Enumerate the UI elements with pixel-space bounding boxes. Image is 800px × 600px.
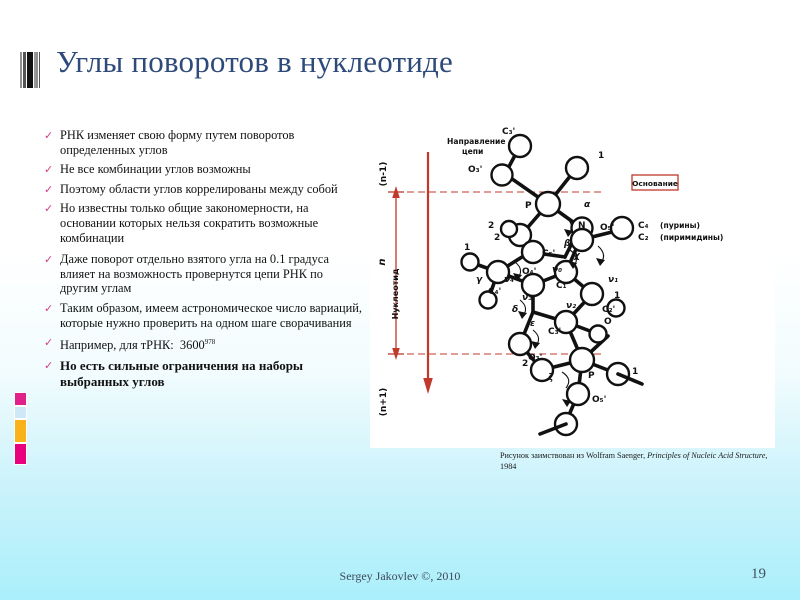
check-icon: ✓ — [44, 202, 53, 215]
label-gamma: γ — [476, 275, 483, 285]
list-item: ✓ Не все комбинации углов возможны — [44, 162, 364, 177]
list-item-label: Таким образом, имеем астрономическое чис… — [60, 301, 364, 330]
atom-c5prime — [522, 241, 544, 263]
footer-page-number: 19 — [751, 566, 766, 583]
list-item: ✓ Но известны только общие закономерност… — [44, 201, 364, 245]
label-p-upper: P — [525, 201, 532, 211]
label-delta: δ — [512, 305, 518, 315]
label-o2-upper: 2 — [494, 233, 500, 243]
purine-label: (пурины) — [660, 221, 700, 230]
direction-label-line1: Направление — [447, 137, 506, 146]
label-o5prime-lower: O₅' — [592, 395, 606, 405]
label-o2-mid: 2 — [488, 221, 494, 231]
list-item: ✓ Таким образом, имеем астрономическое ч… — [44, 301, 364, 330]
label-c4-base: C₄ — [638, 221, 649, 231]
axis-label-n: n — [377, 258, 388, 265]
accent-bar-pale-blue — [14, 406, 27, 419]
label-nu2: ν₂ — [566, 301, 576, 311]
slide-title-bar: Углы поворотов в нуклеотиде — [0, 44, 800, 100]
list-item-label: Например, для тРНК: 3600978 — [60, 335, 364, 353]
label-c3prime-lower: C₃' — [548, 327, 561, 337]
check-icon: ✓ — [44, 163, 53, 176]
atom-o1-upper — [566, 157, 588, 179]
check-icon: ✓ — [44, 129, 53, 142]
atom-c3prime-upper — [509, 135, 531, 157]
label-c2prime: C₂' — [602, 305, 615, 315]
base-box-label: Основание — [632, 179, 678, 188]
bullet-list: ✓ РНК изменяет свою форму путем поворото… — [44, 128, 364, 395]
label-c1prime: C₁' — [556, 281, 569, 291]
label-c3prime-upper: C₃' — [502, 127, 515, 137]
caption-title: Principles of Nucleic Acid Structure — [647, 451, 765, 460]
atom-o3prime-lower — [509, 333, 531, 355]
label-o1-lower: 1 — [632, 367, 638, 377]
direction-label-line2: цепи — [462, 147, 483, 156]
label-nu4: ν₄ — [504, 275, 514, 285]
title-decoration-icon — [20, 52, 40, 88]
list-item-label: Но есть сильные ограничения на наборы вы… — [60, 358, 364, 390]
list-item-label: Не все комбинации углов возможны — [60, 162, 364, 177]
label-o5prime: O₅' — [600, 223, 614, 233]
label-c4prime-lower: 1 — [614, 291, 620, 301]
axis-label-n-plus-1: (n+1) — [379, 388, 389, 416]
atom-o3prime-upper — [492, 165, 513, 186]
accent-bar-pink — [14, 443, 27, 465]
label-o-lower: O — [604, 317, 612, 327]
list-item-label: Поэтому области углов коррелированы межд… — [60, 182, 364, 197]
label-epsilon: ε — [530, 319, 535, 329]
nucleotide-diagram: (n-1) n Нуклеотид (n+1) Направление цепи… — [370, 122, 775, 448]
label-nu1: ν₁ — [608, 275, 618, 285]
label-o2-lower: 2 — [522, 359, 528, 369]
pyrimidine-label: (пиримидины) — [660, 233, 723, 242]
check-icon: ✓ — [44, 253, 53, 266]
footer-author: Sergey Jakovlev ©, 2010 — [0, 569, 800, 584]
list-item: ✓ Даже поворот отдельно взятого угла на … — [44, 252, 364, 296]
list-item-trna: ✓ Например, для тРНК: 3600978 — [44, 335, 364, 353]
trna-value: 3600978 — [180, 338, 215, 352]
list-item: ✓ Поэтому области углов коррелированы ме… — [44, 182, 364, 197]
atom-n-base — [571, 229, 593, 251]
atom-phosphorus-upper — [536, 192, 560, 216]
list-item-label: Но известны только общие закономерности,… — [60, 201, 364, 245]
label-o3prime-upper: O₃' — [468, 165, 482, 175]
label-o3prime-lower: O₃' — [528, 353, 542, 363]
check-icon: ✓ — [44, 302, 53, 315]
accent-bar-orange — [14, 419, 27, 443]
list-item-label: Даже поворот отдельно взятого угла на 0.… — [60, 252, 364, 296]
label-n-base: N — [578, 221, 586, 231]
caption-prefix: Рисунок заимствован из Wolfram Saenger, — [500, 451, 647, 460]
label-p-lower: P — [588, 371, 595, 381]
atom-o2-mid — [501, 221, 517, 237]
list-item-emphasis: ✓ Но есть сильные ограничения на наборы … — [44, 358, 364, 390]
accent-bar-magenta — [14, 392, 27, 406]
label-chi: χ — [573, 251, 581, 261]
check-icon: ✓ — [44, 183, 53, 196]
check-icon: ✓ — [44, 359, 53, 372]
label-c4prime: C₄' — [488, 287, 501, 297]
label-nu3: ν₃ — [522, 293, 532, 303]
label-nu0: ν₀ — [552, 265, 562, 275]
label-beta: β — [563, 239, 570, 249]
page-title: Углы поворотов в нуклеотиде — [56, 44, 453, 80]
atom-h-c4 — [462, 254, 479, 271]
label-zeta: ζ — [548, 373, 554, 383]
nucleotide-diagram-panel: (n-1) n Нуклеотид (n+1) Направление цепи… — [370, 122, 775, 448]
label-c5prime: C₅' — [542, 249, 555, 259]
label-c2-base: C₂ — [638, 233, 649, 243]
label-o1-upper: 1 — [598, 151, 604, 161]
atom-c2prime — [581, 283, 603, 305]
trna-exponent: 978 — [205, 338, 216, 346]
axis-label-nucleotide: Нуклеотид — [391, 268, 400, 319]
label-alpha: α — [584, 200, 591, 210]
figure-caption: Рисунок заимствован из Wolfram Saenger, … — [500, 450, 785, 472]
list-item: ✓ РНК изменяет свою форму путем поворото… — [44, 128, 364, 157]
label-o4prime: O₄' — [522, 267, 536, 277]
check-icon: ✓ — [44, 336, 53, 349]
axis-label-n-minus-1: (n-1) — [379, 162, 389, 187]
label-h1-c4: 1 — [464, 243, 470, 253]
atom-h-c3 — [590, 326, 607, 343]
atom-phosphorus-lower — [570, 348, 594, 372]
accent-bar-group — [14, 392, 27, 465]
list-item-label: РНК изменяет свою форму путем поворотов … — [60, 128, 364, 157]
trna-text: Например, для тРНК: — [60, 338, 174, 352]
